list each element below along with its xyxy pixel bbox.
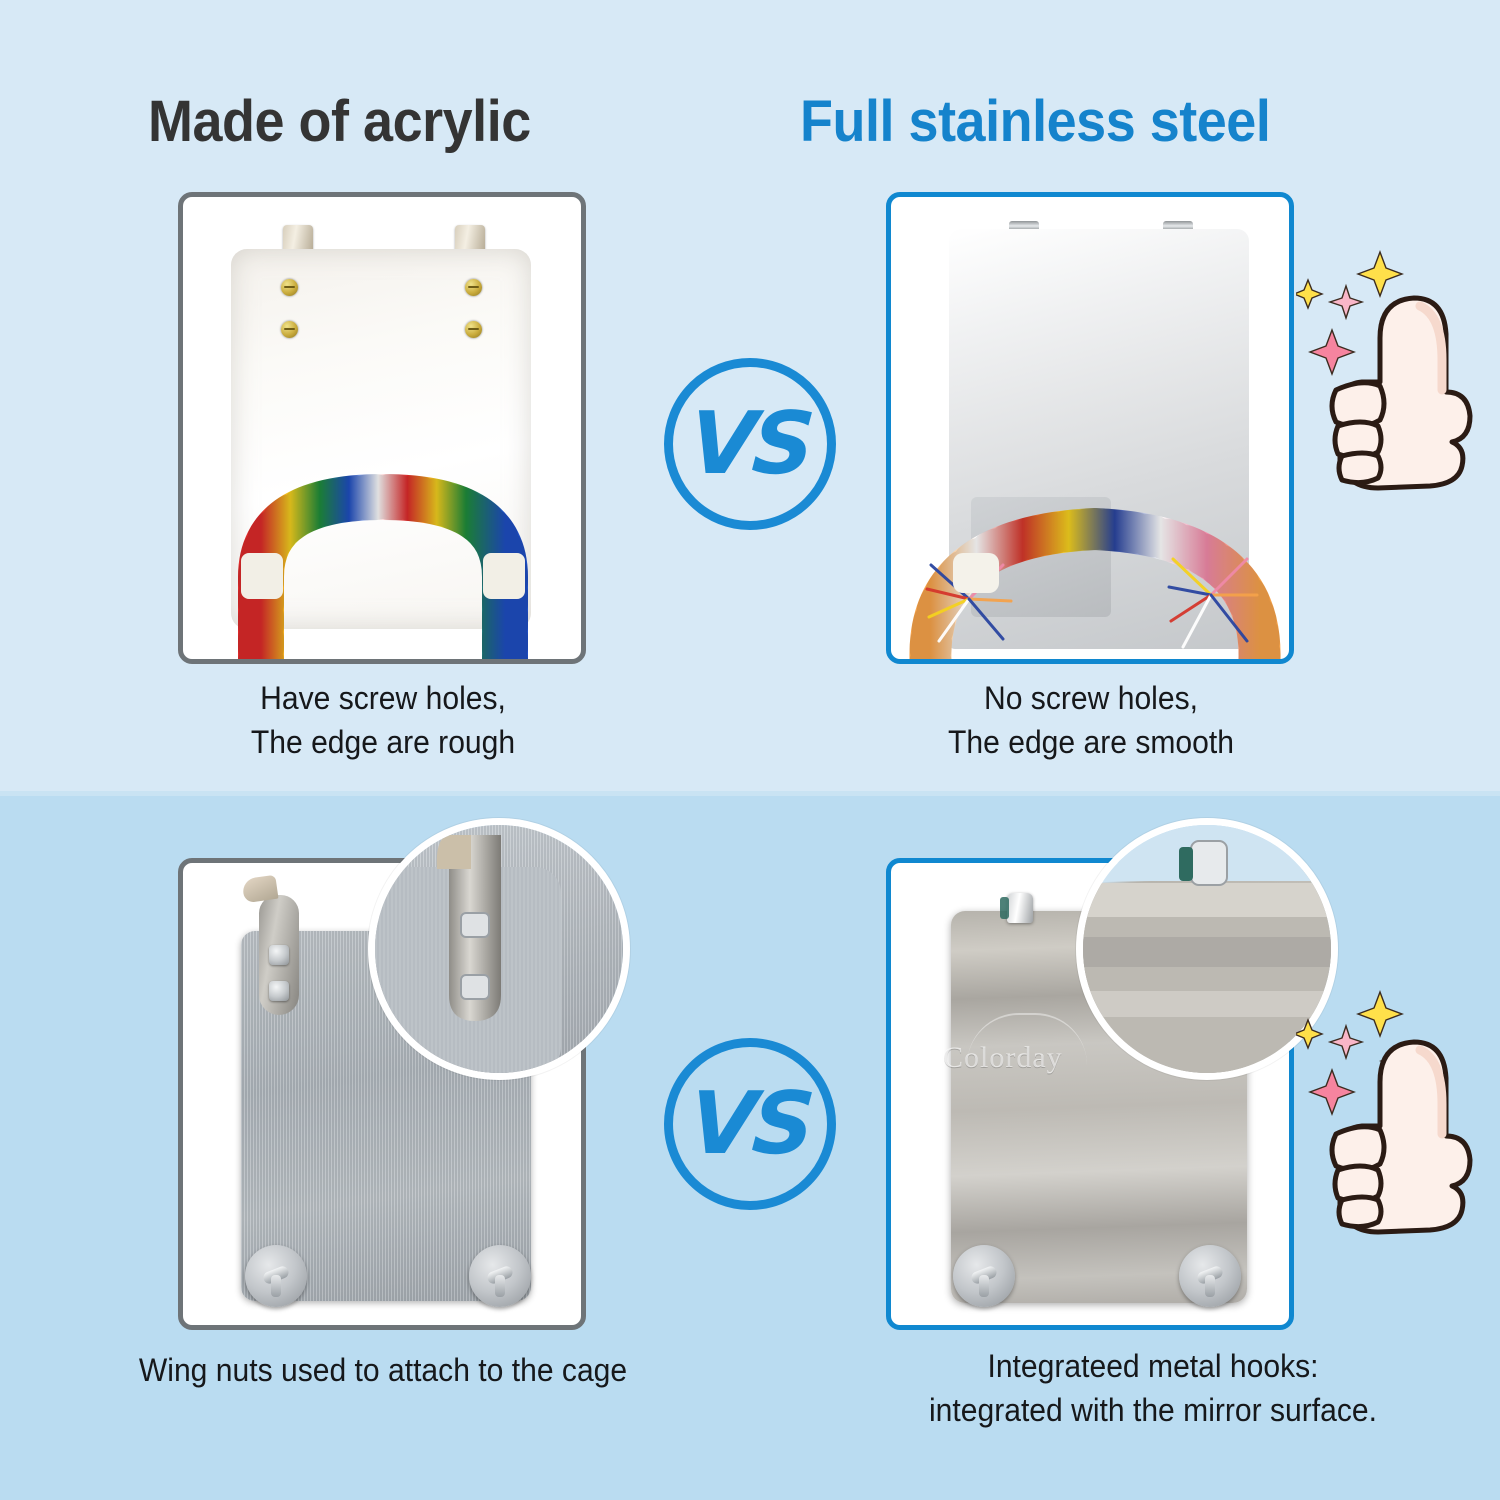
photo-frame-acrylic-front [178,192,586,664]
vs-label-top: VS [686,394,813,494]
thumbs-up-icon-bottom [1318,1030,1494,1240]
heading-right-stainless: Full stainless steel [800,88,1270,155]
hook-bolt-lower [269,981,289,1001]
rope-perch-braided [183,197,581,659]
thumbs-up-icon-top [1318,286,1494,496]
vs-badge-top: VS [664,358,836,530]
wing-nut-left [245,1245,307,1307]
heading-left-acrylic: Made of acrylic [148,88,531,155]
steel-fastener-left [953,1245,1015,1307]
integrated-clip-hook-left [1007,893,1033,923]
vs-label-bottom: VS [686,1074,813,1174]
infographic-page: Made of acrylic Full stainless steel [0,0,1500,1500]
magnifier-callout-bolted-hook [368,818,630,1080]
vs-badge-bottom: VS [664,1038,836,1210]
magnifier-content-bolted-hook [375,825,623,1073]
hook-bolt-upper [269,945,289,965]
wing-nut-right [469,1245,531,1307]
brand-etch-colorday: Colorday [943,1041,1063,1075]
photo-acrylic-front [183,197,581,659]
caption-acrylic-back: Wing nuts used to attach to the cage [78,1348,689,1392]
rope-perch-frayed [891,197,1289,659]
steel-fastener-right [1179,1245,1241,1307]
photo-frame-steel-front [886,192,1294,664]
caption-acrylic-front: Have screw holes, The edge are rough [153,676,614,764]
section-divider [0,791,1500,796]
magnifier-content-integrated-hook [1083,825,1331,1073]
photo-steel-front [891,197,1289,659]
caption-steel-back: Integrateed metal hooks: integrated with… [848,1344,1459,1432]
hook-lip [241,875,278,903]
caption-steel-front: No screw holes, The edge are smooth [861,676,1322,764]
